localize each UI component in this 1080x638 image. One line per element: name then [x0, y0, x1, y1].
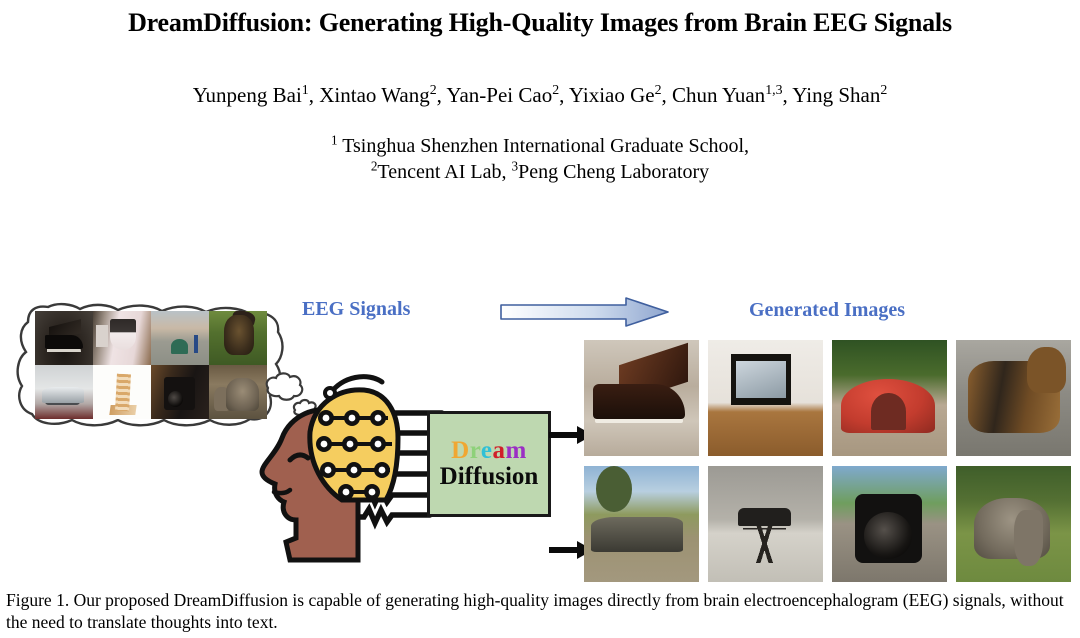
affiliation-line-2: 2Tencent AI Lab, 3Peng Cheng Laboratory: [0, 159, 1080, 185]
affiliation-block: 1 Tsinghua Shenzhen International Gradua…: [0, 133, 1080, 186]
dream-letter-a: a: [493, 437, 506, 464]
stimulus-image-computer-appliance: [93, 311, 151, 365]
dream-letter-m: m: [506, 437, 527, 464]
generated-image-chair: [708, 466, 823, 582]
eeg-signals-label: EEG Signals: [302, 298, 410, 321]
eeg-head-icon: [246, 360, 446, 580]
author-affiliation-marker: 2: [880, 82, 887, 97]
author-entry: Chun Yuan1,3,: [672, 83, 788, 107]
generated-image-computer-desk: [708, 340, 823, 456]
stimulus-image-piano: [35, 311, 93, 365]
generated-image-piano: [584, 340, 699, 456]
dreamdiffusion-model-box: Dream Diffusion: [427, 411, 551, 517]
figure-caption: Figure 1. Our proposed DreamDiffusion is…: [6, 589, 1074, 634]
dream-word: Dream: [451, 438, 527, 464]
author-affiliation-marker: 1,3: [765, 82, 782, 97]
affiliation-line-1: 1 Tsinghua Shenzhen International Gradua…: [0, 133, 1080, 159]
stimulus-image-grid: [35, 311, 267, 419]
author-entry: Yunpeng Bai1,: [193, 83, 314, 107]
dream-letter-d: D: [451, 437, 470, 464]
dream-letter-r: r: [470, 437, 481, 464]
author-entry: Yixiao Ge2,: [569, 83, 667, 107]
page-title: DreamDiffusion: Generating High-Quality …: [0, 8, 1080, 38]
generated-image-tent: [832, 340, 947, 456]
dream-letter-e: e: [481, 437, 493, 464]
diffusion-word: Diffusion: [440, 464, 539, 490]
stimulus-image-dog: [209, 311, 267, 365]
author-affiliation-marker: 1: [302, 82, 309, 97]
stimulus-image-chair: [93, 365, 151, 419]
stimulus-image-car: [35, 365, 93, 419]
eeg-cap-icon: [310, 377, 398, 500]
flow-arrow-icon: [500, 297, 670, 327]
generated-image-car: [584, 466, 699, 582]
author-line: Yunpeng Bai1, Xintao Wang2, Yan-Pei Cao2…: [0, 83, 1080, 108]
generated-image-camera: [832, 466, 947, 582]
stimulus-image-camera: [151, 365, 209, 419]
author-entry: Yan-Pei Cao2,: [446, 83, 564, 107]
author-entry: Xintao Wang2,: [319, 83, 442, 107]
stimulus-image-tent: [151, 311, 209, 365]
author-affiliation-marker: 2: [655, 82, 662, 97]
generated-image-grid: [584, 340, 1076, 583]
generated-image-elephant: [956, 466, 1071, 582]
author-affiliation-marker: 2: [552, 82, 559, 97]
generated-images-label: Generated Images: [749, 299, 905, 322]
author-entry: Ying Shan2: [792, 83, 887, 107]
affiliation-marker: 1: [331, 132, 338, 147]
generated-image-dog: [956, 340, 1071, 456]
author-affiliation-marker: 2: [430, 82, 437, 97]
